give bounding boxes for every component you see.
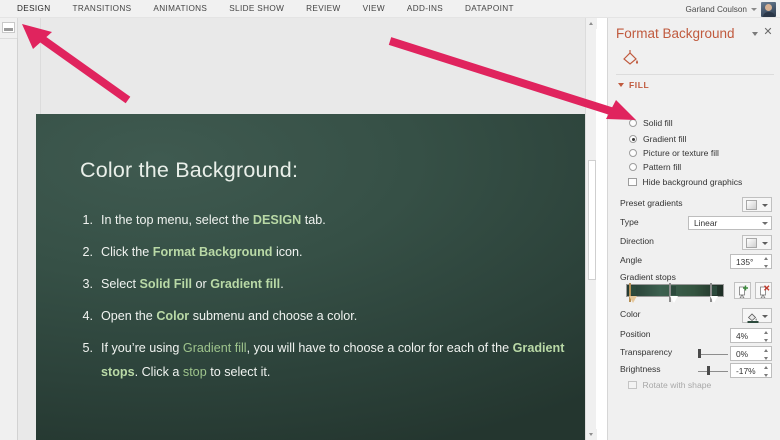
checkbox-icon[interactable]: [628, 178, 637, 187]
field-preset-gradients: Preset gradients: [620, 197, 772, 212]
field-label: Transparency: [620, 347, 672, 357]
radio-solid-fill[interactable]: Solid fill: [629, 118, 673, 128]
chevron-down-icon[interactable]: [762, 242, 768, 245]
direction-button[interactable]: [742, 235, 772, 250]
gradient-stops-bar[interactable]: [626, 284, 724, 297]
checkbox-rotate-with-shape: Rotate with shape: [628, 380, 711, 390]
triangle-up-icon: [589, 22, 593, 25]
radio-label: Gradient fill: [643, 134, 686, 144]
text-run: In the top menu, select the: [101, 213, 253, 227]
list-item-text: Select Solid Fill or Gradient fill.: [101, 273, 580, 297]
position-stepper[interactable]: 4%: [730, 328, 772, 343]
list-item-number: 4.: [80, 305, 101, 329]
preset-gradients-button[interactable]: [742, 197, 772, 212]
stepper-down-icon[interactable]: [764, 374, 768, 377]
ribbon-tab-datapoint[interactable]: DATAPOINT: [454, 0, 525, 18]
list-item: 3.Select Solid Fill or Gradient fill.: [80, 273, 580, 297]
triangle-collapse-icon[interactable]: [618, 83, 624, 87]
list-item-text: In the top menu, select the DESIGN tab.: [101, 209, 580, 233]
gradient-stop-marker[interactable]: [669, 284, 678, 305]
chevron-down-icon[interactable]: [752, 32, 758, 36]
ribbon-tab-slide-show[interactable]: SLIDE SHOW: [218, 0, 295, 18]
ribbon-tab-review[interactable]: REVIEW: [295, 0, 351, 18]
text-run: or: [192, 277, 210, 291]
stepper-up-icon[interactable]: [764, 331, 768, 334]
text-run: to select it.: [207, 365, 271, 379]
ribbon-bar: DESIGNTRANSITIONSANIMATIONSSLIDE SHOWREV…: [0, 0, 780, 18]
gradient-stop-marker-selected[interactable]: [629, 284, 638, 305]
slide-surface[interactable]: Color the Background: 1.In the top menu,…: [36, 114, 596, 440]
panel-title: Format Background: [616, 26, 735, 41]
field-brightness: Brightness -17%: [620, 363, 772, 378]
radio-icon[interactable]: [629, 163, 637, 171]
field-color: Color: [620, 308, 772, 323]
stepper-up-icon[interactable]: [764, 257, 768, 260]
list-item-text: Open the Color submenu and choose a colo…: [101, 305, 580, 329]
user-name: Garland Coulson: [686, 5, 747, 14]
field-label: Direction: [620, 236, 654, 246]
list-item: 4.Open the Color submenu and choose a co…: [80, 305, 580, 329]
gradient-stops-label: Gradient stops: [620, 272, 676, 282]
radio-pattern-fill[interactable]: Pattern fill: [629, 162, 681, 172]
radio-icon-selected[interactable]: [629, 135, 637, 143]
text-run: , you will have to choose a color for ea…: [247, 341, 513, 355]
list-item-number: 1.: [80, 209, 101, 233]
direction-swatch-icon: [746, 238, 757, 248]
ribbon-tab-add-ins[interactable]: ADD-INS: [396, 0, 454, 18]
field-label: Color: [620, 309, 641, 319]
list-item: 2.Click the Format Background icon.: [80, 241, 580, 265]
radio-icon[interactable]: [629, 149, 637, 157]
checkbox-label: Hide background graphics: [643, 177, 743, 187]
transparency-stepper[interactable]: 0%: [730, 346, 772, 361]
field-angle: Angle 135°: [620, 254, 772, 269]
list-item: 5.If you’re using Gradient fill, you wil…: [80, 337, 580, 384]
scrollbar-thumb[interactable]: [588, 160, 596, 280]
text-run: icon.: [272, 245, 302, 259]
add-gradient-stop-button[interactable]: [734, 282, 751, 299]
fill-section-header[interactable]: FILL: [618, 80, 649, 90]
stepper-down-icon[interactable]: [764, 339, 768, 342]
gradient-swatch-icon: [746, 200, 757, 210]
close-icon[interactable]: ✕: [762, 26, 774, 38]
stepper-buttons[interactable]: [763, 366, 769, 377]
radio-icon[interactable]: [629, 119, 637, 127]
user-account-zone[interactable]: Garland Coulson: [686, 0, 776, 18]
transparency-slider[interactable]: [698, 354, 728, 355]
list-item-number: 5.: [80, 337, 101, 361]
fill-section-label: FILL: [629, 80, 649, 90]
brightness-slider[interactable]: [698, 371, 728, 372]
canvas-scrollbar[interactable]: [585, 18, 596, 440]
stepper-buttons[interactable]: [763, 331, 769, 342]
chevron-down-icon[interactable]: [762, 315, 768, 318]
stepper-buttons[interactable]: [763, 349, 769, 360]
text-run: . Click a: [135, 365, 183, 379]
list-item-number: 3.: [80, 273, 101, 297]
field-label: Position: [620, 329, 651, 339]
keyword-run: Color: [156, 309, 189, 323]
text-run: If you’re using: [101, 341, 183, 355]
text-run: submenu and choose a color.: [189, 309, 357, 323]
stepper-up-icon[interactable]: [764, 366, 768, 369]
radio-label: Solid fill: [643, 118, 673, 128]
ribbon-tab-transitions[interactable]: TRANSITIONS: [62, 0, 143, 18]
powerpoint-window: DESIGNTRANSITIONSANIMATIONSSLIDE SHOWREV…: [0, 0, 780, 440]
text-run: .: [280, 277, 284, 291]
scroll-up-button[interactable]: [586, 18, 597, 29]
field-label: Type: [620, 217, 639, 227]
slide-editor-canvas[interactable]: Color the Background: 1.In the top menu,…: [18, 18, 596, 440]
gradient-stop-marker[interactable]: [710, 284, 719, 305]
position-value: 4%: [731, 331, 748, 341]
radio-label: Pattern fill: [643, 162, 681, 172]
ribbon-tab-list: DESIGNTRANSITIONSANIMATIONSSLIDE SHOWREV…: [0, 0, 780, 18]
field-transparency: Transparency 0%: [620, 346, 772, 361]
chevron-down-icon[interactable]: [762, 222, 768, 225]
stepper-up-icon[interactable]: [764, 349, 768, 352]
keyword-run: Gradient fill: [183, 341, 247, 355]
text-run: Select: [101, 277, 140, 291]
slide-thumbnail[interactable]: [2, 22, 15, 33]
paint-bucket-icon[interactable]: [620, 48, 642, 68]
slide-title: Color the Background:: [80, 158, 298, 183]
keyword-run: DESIGN: [253, 213, 301, 227]
list-item-number: 2.: [80, 241, 101, 265]
scroll-down-button[interactable]: [586, 429, 597, 440]
radio-label: Picture or texture fill: [643, 148, 719, 158]
color-button[interactable]: [742, 308, 772, 323]
slide-thumbnail-pane[interactable]: [0, 18, 18, 440]
keyword-run: Gradient fill: [210, 277, 280, 291]
checkbox-hide-background-graphics[interactable]: Hide background graphics: [628, 177, 742, 187]
format-background-panel: Format Background ✕ FILL Solid fill Grad…: [607, 18, 780, 440]
brightness-stepper[interactable]: -17%: [730, 363, 772, 378]
divider: [0, 38, 18, 39]
radio-picture-or-texture-fill[interactable]: Picture or texture fill: [629, 148, 719, 158]
checkbox-label: Rotate with shape: [643, 380, 712, 390]
text-run: Open the: [101, 309, 156, 323]
divider: [616, 74, 774, 75]
chevron-down-icon[interactable]: [751, 8, 757, 11]
ribbon-tab-animations[interactable]: ANIMATIONS: [142, 0, 218, 18]
stepper-down-icon[interactable]: [764, 265, 768, 268]
checkbox-icon: [628, 381, 637, 390]
text-run: Click the: [101, 245, 153, 259]
field-direction: Direction: [620, 235, 772, 250]
field-type: Type Linear: [620, 216, 772, 231]
keyword-run: Solid Fill: [140, 277, 192, 291]
avatar[interactable]: [761, 2, 776, 17]
list-item-text: Click the Format Background icon.: [101, 241, 580, 265]
keyword-run: stop: [183, 365, 207, 379]
text-run: tab.: [301, 213, 326, 227]
triangle-down-icon: [589, 433, 593, 436]
paint-bucket-icon: [747, 310, 759, 321]
ribbon-tab-view[interactable]: VIEW: [352, 0, 396, 18]
angle-value: 135°: [731, 257, 753, 267]
ribbon-tab-design[interactable]: DESIGN: [6, 0, 62, 18]
stepper-down-icon[interactable]: [764, 357, 768, 360]
brightness-value: -17%: [731, 366, 756, 376]
keyword-run: Format Background: [153, 245, 273, 259]
type-value: Linear: [689, 218, 717, 228]
brightness-slider-knob[interactable]: [707, 366, 710, 375]
chevron-down-icon[interactable]: [762, 204, 768, 207]
field-label: Preset gradients: [620, 198, 683, 208]
field-label: Angle: [620, 255, 642, 265]
field-label: Brightness: [620, 364, 661, 374]
type-dropdown[interactable]: Linear: [688, 216, 772, 230]
stepper-buttons[interactable]: [763, 257, 769, 268]
list-item-text: If you’re using Gradient fill, you will …: [101, 337, 580, 384]
angle-stepper[interactable]: 135°: [730, 254, 772, 269]
transparency-slider-knob[interactable]: [698, 349, 701, 358]
remove-gradient-stop-button[interactable]: [755, 282, 772, 299]
radio-gradient-fill[interactable]: Gradient fill: [629, 134, 686, 144]
list-item: 1.In the top menu, select the DESIGN tab…: [80, 209, 580, 233]
slide-numbered-list: 1.In the top menu, select the DESIGN tab…: [80, 209, 580, 393]
field-position: Position 4%: [620, 328, 772, 343]
transparency-value: 0%: [731, 349, 748, 359]
